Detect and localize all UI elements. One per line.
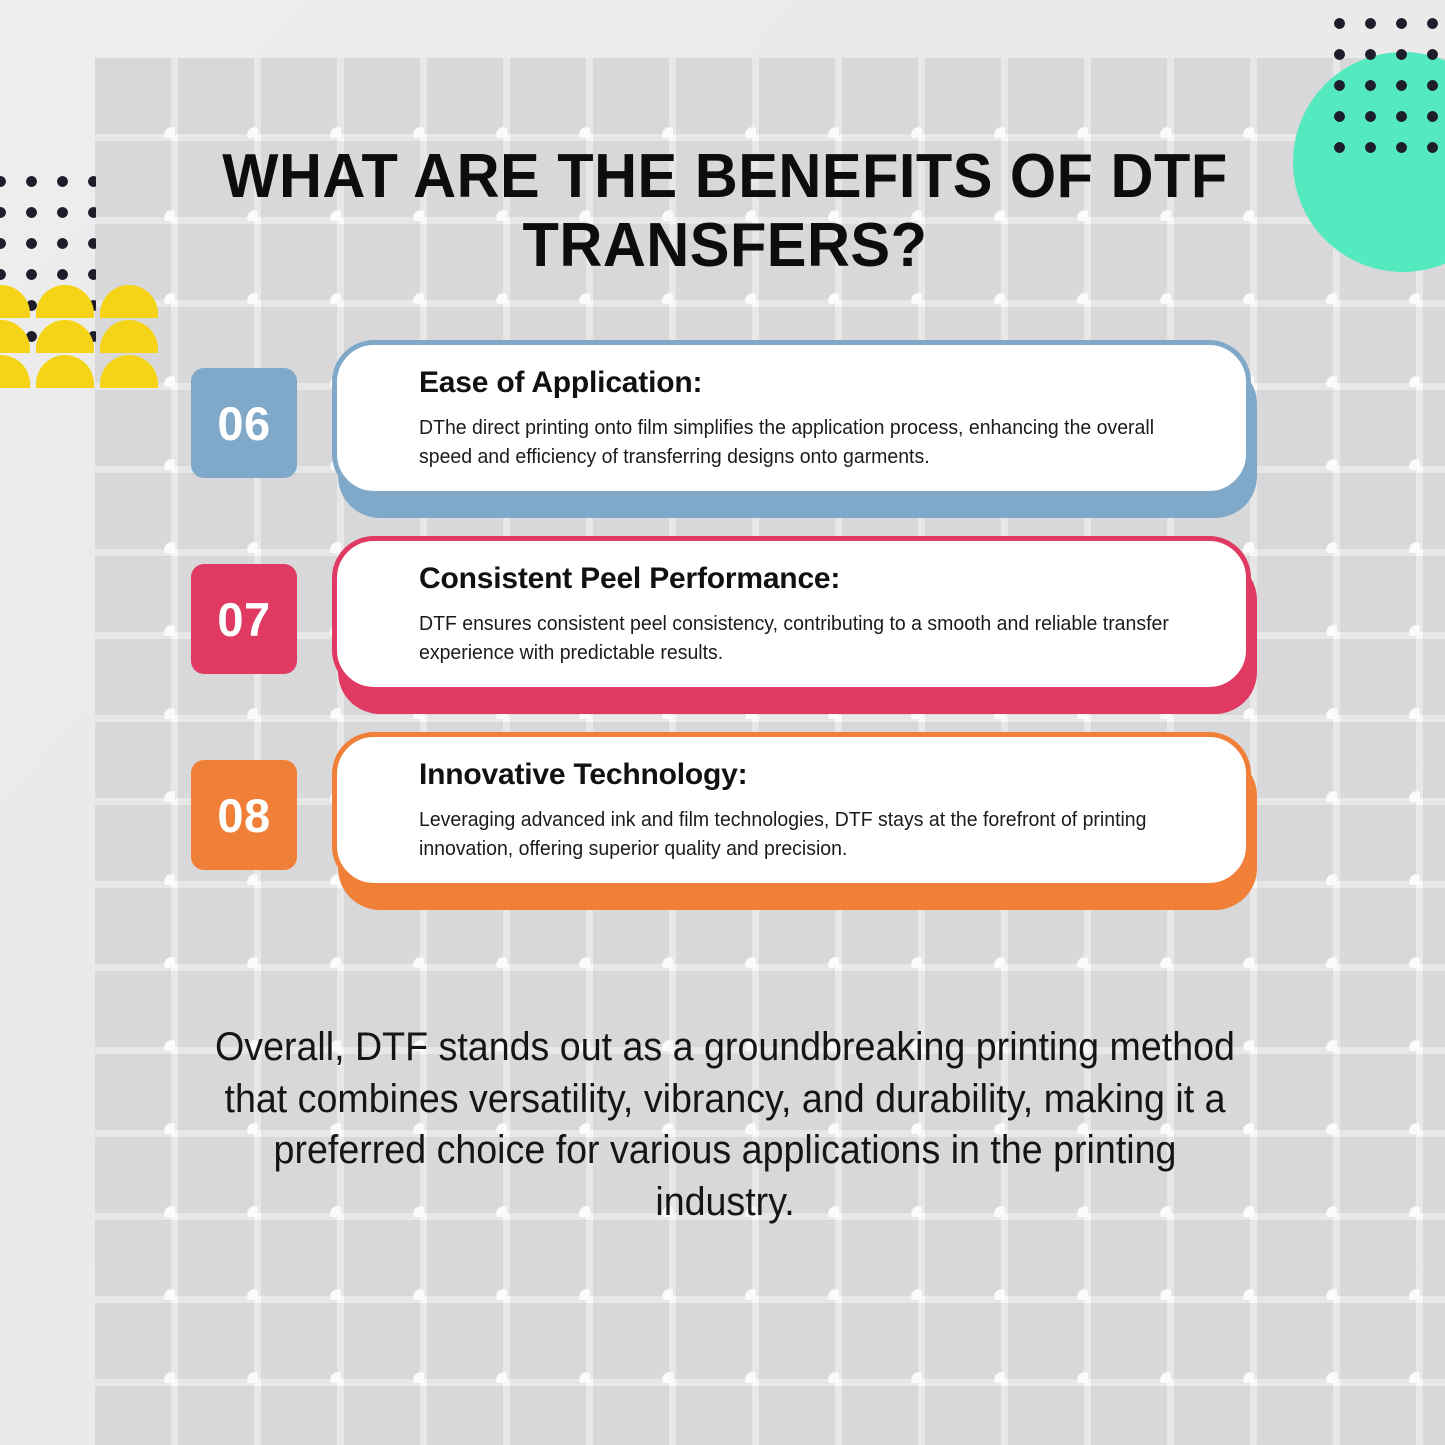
page-title: WHAT ARE THE BENEFITS OF DTF TRANSFERS? bbox=[173, 142, 1277, 281]
card-surface: Consistent Peel Performance: DTF ensures… bbox=[332, 536, 1251, 692]
benefit-card-08: 08 Innovative Technology: Leveraging adv… bbox=[0, 732, 1445, 928]
card-body-07: Consistent Peel Performance: DTF ensures… bbox=[332, 536, 1257, 714]
card-description: Leveraging advanced ink and film technol… bbox=[419, 805, 1210, 864]
infographic-poster: WHAT ARE THE BENEFITS OF DTF TRANSFERS? … bbox=[0, 0, 1445, 1445]
benefit-card-07: 07 Consistent Peel Performance: DTF ensu… bbox=[0, 536, 1445, 732]
card-description: DTF ensures consistent peel consistency,… bbox=[419, 609, 1210, 668]
half-dome-shape bbox=[36, 285, 94, 318]
benefit-card-06: 06 Ease of Application: DThe direct prin… bbox=[0, 340, 1445, 536]
summary-paragraph: Overall, DTF stands out as a groundbreak… bbox=[203, 1022, 1246, 1228]
half-dome-shape bbox=[0, 285, 30, 318]
card-description: DThe direct printing onto film simplifie… bbox=[419, 413, 1210, 472]
benefit-card-list: 06 Ease of Application: DThe direct prin… bbox=[0, 340, 1445, 928]
card-body-06: Ease of Application: DThe direct printin… bbox=[332, 340, 1257, 518]
card-heading: Consistent Peel Performance: bbox=[419, 562, 1212, 596]
card-number-badge-06: 06 bbox=[191, 368, 297, 478]
top-right-dot-grid-decoration bbox=[1318, 2, 1445, 172]
card-number-badge-07: 07 bbox=[191, 564, 297, 674]
half-dome-shape bbox=[100, 285, 158, 318]
card-heading: Ease of Application: bbox=[419, 366, 1212, 400]
card-body-08: Innovative Technology: Leveraging advanc… bbox=[332, 732, 1257, 910]
card-number-badge-08: 08 bbox=[191, 760, 297, 870]
card-surface: Innovative Technology: Leveraging advanc… bbox=[332, 732, 1251, 888]
card-heading: Innovative Technology: bbox=[419, 758, 1212, 792]
card-surface: Ease of Application: DThe direct printin… bbox=[332, 340, 1251, 496]
dome-row bbox=[0, 283, 158, 318]
